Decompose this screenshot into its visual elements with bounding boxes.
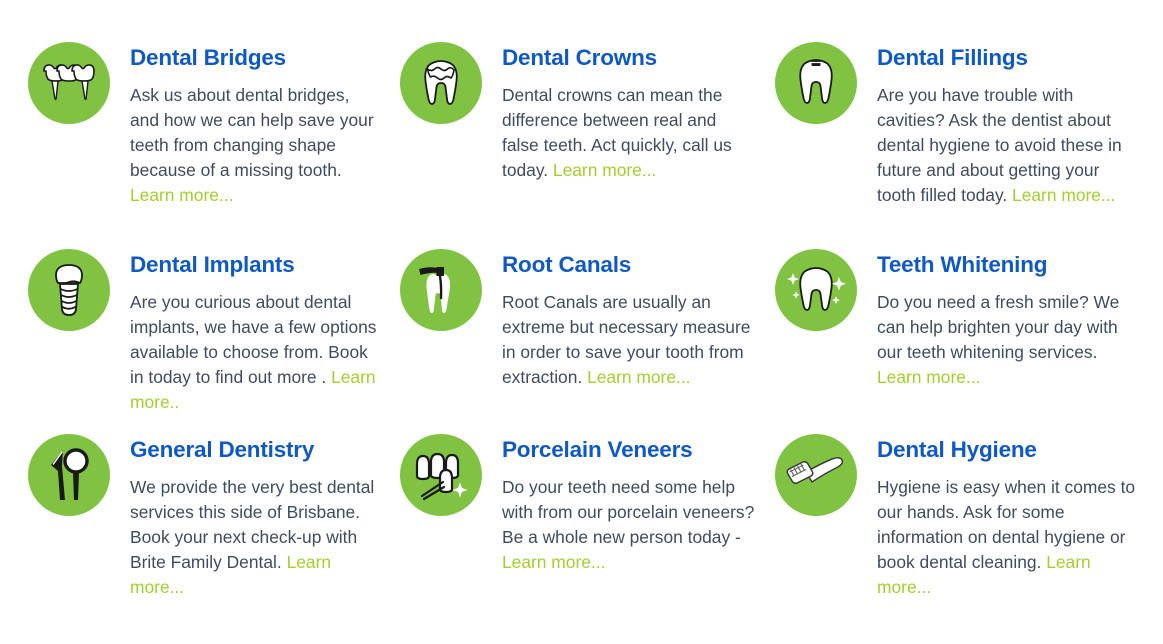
sparkling-tooth-icon [775, 249, 857, 331]
service-title: Dental Bridges [130, 46, 382, 71]
service-card-dental-fillings[interactable]: Dental Fillings Are you have trouble wit… [775, 40, 1163, 247]
service-text: Ask us about dental bridges, and how we … [130, 85, 374, 180]
learn-more-link[interactable]: Learn more... [1012, 185, 1115, 205]
toothbrush-icon [775, 434, 857, 516]
learn-more-link[interactable]: Learn more... [877, 367, 980, 387]
porcelain-veneers-icon [400, 434, 482, 516]
service-text: Do your teeth need some help with from o… [502, 477, 754, 547]
service-card-dental-implants[interactable]: Dental Implants Are you curious about de… [28, 247, 400, 432]
service-text: Do you need a fresh smile? We can help b… [877, 292, 1119, 362]
dental-implant-screw-icon [28, 249, 110, 331]
learn-more-link[interactable]: Learn more... [130, 185, 233, 205]
service-text: We provide the very best dental services… [130, 477, 374, 572]
root-canal-drill-icon [400, 249, 482, 331]
dental-crown-tooth-icon [400, 42, 482, 124]
learn-more-link[interactable]: Learn more... [502, 552, 605, 572]
dental-bridge-icon [28, 42, 110, 124]
filled-tooth-icon [775, 42, 857, 124]
service-description: Do your teeth need some help with from o… [502, 475, 757, 575]
service-card-dental-crowns[interactable]: Dental Crowns Dental crowns can mean the… [400, 40, 775, 247]
service-card-dental-bridges[interactable]: Dental Bridges Ask us about dental bridg… [28, 40, 400, 247]
service-title: Teeth Whitening [877, 253, 1139, 278]
service-description: Ask us about dental bridges, and how we … [130, 83, 382, 208]
service-title: Porcelain Veneers [502, 438, 757, 463]
service-card-root-canals[interactable]: Root Canals Root Canals are usually an e… [400, 247, 775, 432]
service-card-teeth-whitening[interactable]: Teeth Whitening Do you need a fresh smil… [775, 247, 1163, 432]
service-description: Root Canals are usually an extreme but n… [502, 290, 757, 390]
service-description: We provide the very best dental services… [130, 475, 382, 600]
service-title: General Dentistry [130, 438, 382, 463]
services-grid: Dental Bridges Ask us about dental bridg… [0, 0, 1163, 600]
service-description: Are you have trouble with cavities? Ask … [877, 83, 1139, 208]
service-title: Root Canals [502, 253, 757, 278]
learn-more-link[interactable]: Learn more... [553, 160, 656, 180]
service-text: Hygiene is easy when it comes to our han… [877, 477, 1135, 572]
service-description: Do you need a fresh smile? We can help b… [877, 290, 1139, 390]
service-description: Hygiene is easy when it comes to our han… [877, 475, 1139, 600]
service-title: Dental Implants [130, 253, 382, 278]
service-card-general-dentistry[interactable]: General Dentistry We provide the very be… [28, 432, 400, 600]
dental-mirror-probe-icon [28, 434, 110, 516]
service-card-porcelain-veneers[interactable]: Porcelain Veneers Do your teeth need som… [400, 432, 775, 600]
service-description: Are you curious about dental implants, w… [130, 290, 382, 415]
service-card-dental-hygiene[interactable]: Dental Hygiene Hygiene is easy when it c… [775, 432, 1163, 600]
learn-more-link[interactable]: Learn more... [587, 367, 690, 387]
service-description: Dental crowns can mean the difference be… [502, 83, 757, 183]
service-title: Dental Fillings [877, 46, 1139, 71]
service-title: Dental Hygiene [877, 438, 1139, 463]
service-title: Dental Crowns [502, 46, 757, 71]
